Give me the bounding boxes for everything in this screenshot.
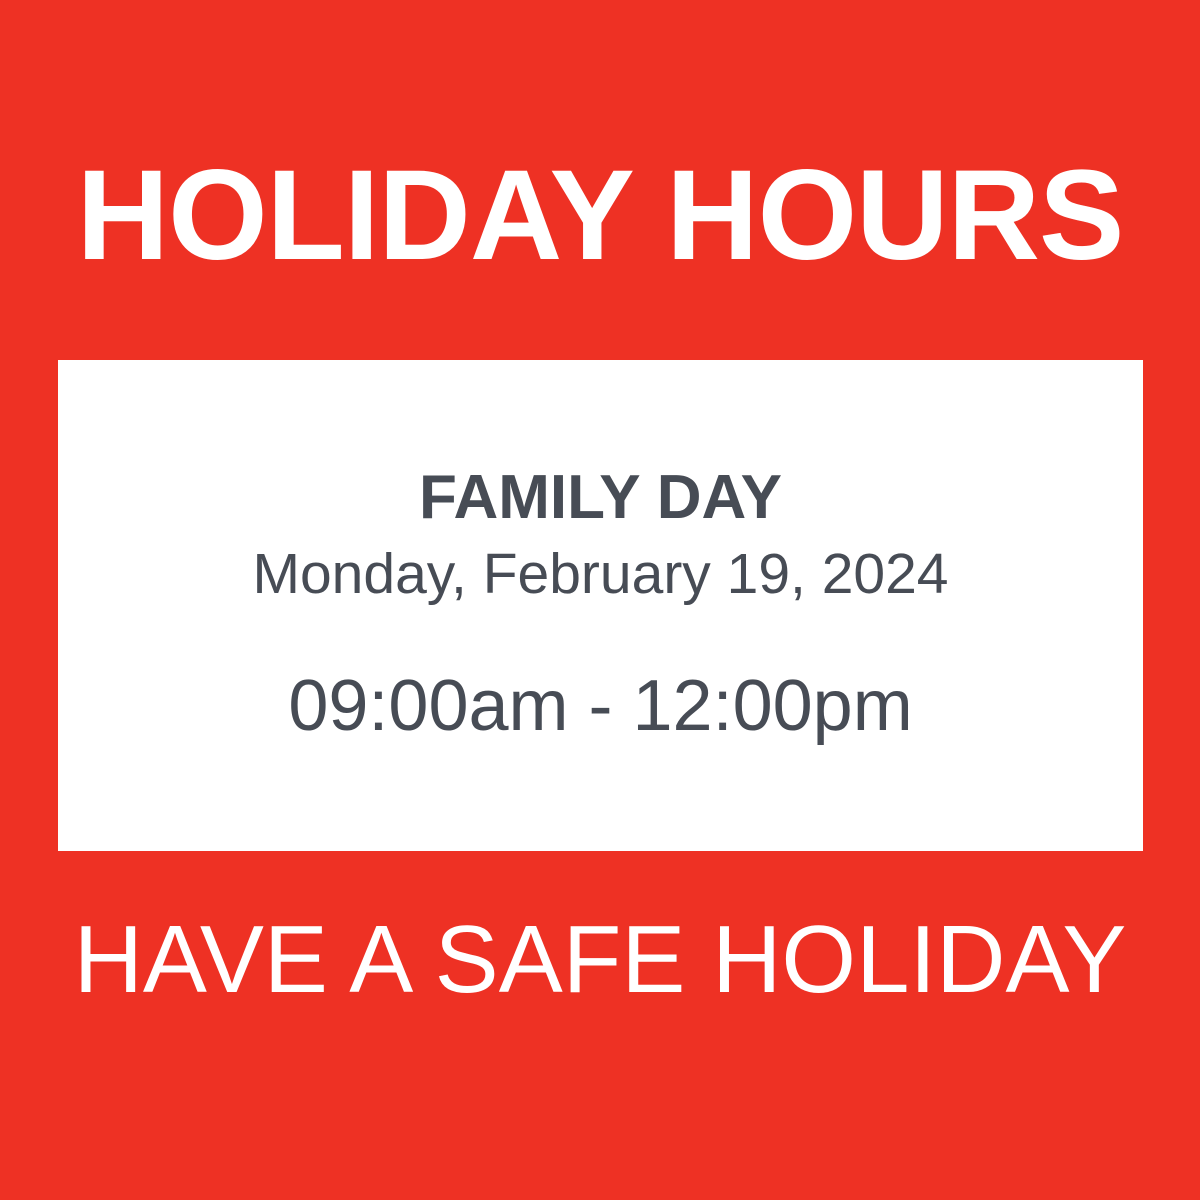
holiday-name: FAMILY DAY (419, 465, 782, 530)
footer-message: HAVE A SAFE HOLIDAY (0, 912, 1200, 1008)
holiday-info-card-content: FAMILY DAY Monday, February 19, 2024 09:… (58, 360, 1143, 851)
holiday-hours-range: 09:00am - 12:00pm (288, 667, 912, 746)
holiday-info-card: FAMILY DAY Monday, February 19, 2024 09:… (58, 360, 1143, 851)
holiday-hours-poster: HOLIDAY HOURS FAMILY DAY Monday, Februar… (0, 0, 1200, 1200)
holiday-date: Monday, February 19, 2024 (252, 540, 948, 608)
page-title: HOLIDAY HOURS (0, 152, 1200, 280)
